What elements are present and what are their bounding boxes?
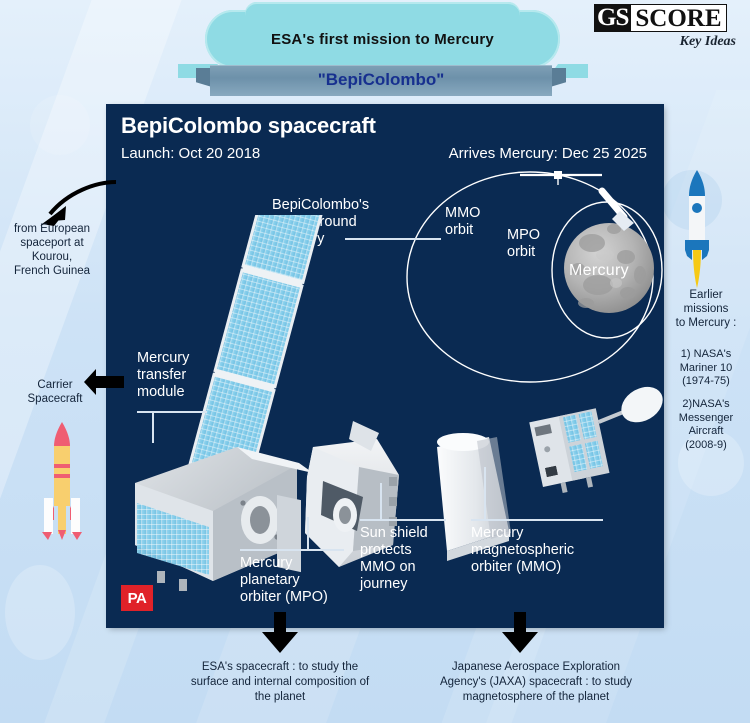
label-mpo: Mercury planetary orbiter (MPO) [240, 555, 360, 606]
curved-arrow-to-launch [38, 180, 118, 228]
launch-site-note: from European spaceport at Kourou, Frenc… [0, 222, 104, 278]
header-cloud: ESA's first mission to Mercury [205, 10, 560, 68]
earlier-mission-2: 2)NASA's Messenger Aircraft (2008-9) [663, 398, 749, 452]
leader-sun-shield-h [360, 519, 446, 521]
label-sun-shield: Sun shield protects MMO on journey [360, 525, 452, 593]
gsscore-logo: GS SCORE Key Ideas [594, 4, 744, 50]
leader-mmo-v [484, 467, 486, 519]
down-arrow-esa [258, 612, 302, 654]
mission-rocket-icon [680, 168, 714, 290]
header-ribbon: "BepiColombo" [196, 65, 566, 95]
logo-gs-mark: GS [594, 4, 631, 32]
logo-tagline: Key Ideas [594, 34, 744, 50]
leader-mmo-h [471, 519, 603, 521]
infographic-root: ESA's first mission to Mercury "BepiColo… [0, 0, 750, 723]
caption-esa-spacecraft: ESA's spacecraft : to study the surface … [155, 660, 405, 705]
bg-circle [30, 95, 90, 155]
carrier-rocket-icon [34, 420, 90, 540]
pa-credit-badge: PA [121, 585, 153, 611]
caption-jaxa-spacecraft: Japanese Aerospace Exploration Agency's … [405, 660, 667, 705]
panel-title: BepiColombo spacecraft [121, 113, 376, 139]
spacecraft-panel: BepiColombo spacecraft Launch: Oct 20 20… [107, 105, 663, 627]
carrier-spacecraft-label: Carrier Spacecraft [18, 378, 92, 406]
leader-mpo-v [307, 517, 309, 549]
leader-sun-shield-v [380, 483, 382, 519]
leader-mpo-h [240, 549, 344, 551]
ribbon-title: "BepiColombo" [196, 65, 566, 95]
earlier-missions-heading: Earlier missions to Mercury : [663, 288, 749, 330]
down-arrow-jaxa [498, 612, 542, 654]
cloud-title: ESA's first mission to Mercury [205, 10, 560, 68]
leader-transfer-module-h [137, 411, 207, 413]
arrival-date: Arrives Mercury: Dec 25 2025 [449, 145, 647, 162]
leader-transfer-module-v [152, 411, 154, 443]
logo-score-mark: SCORE [631, 4, 726, 32]
bg-circle [5, 565, 75, 660]
launch-date: Launch: Oct 20 2018 [121, 145, 260, 162]
mmo-art [526, 378, 663, 497]
label-mmo: Mercury magnetospheric orbiter (MMO) [471, 525, 611, 576]
earlier-mission-1: 1) NASA's Mariner 10 (1974-75) [663, 348, 749, 389]
label-mercury-transfer-module: Mercury transfer module [137, 350, 247, 401]
